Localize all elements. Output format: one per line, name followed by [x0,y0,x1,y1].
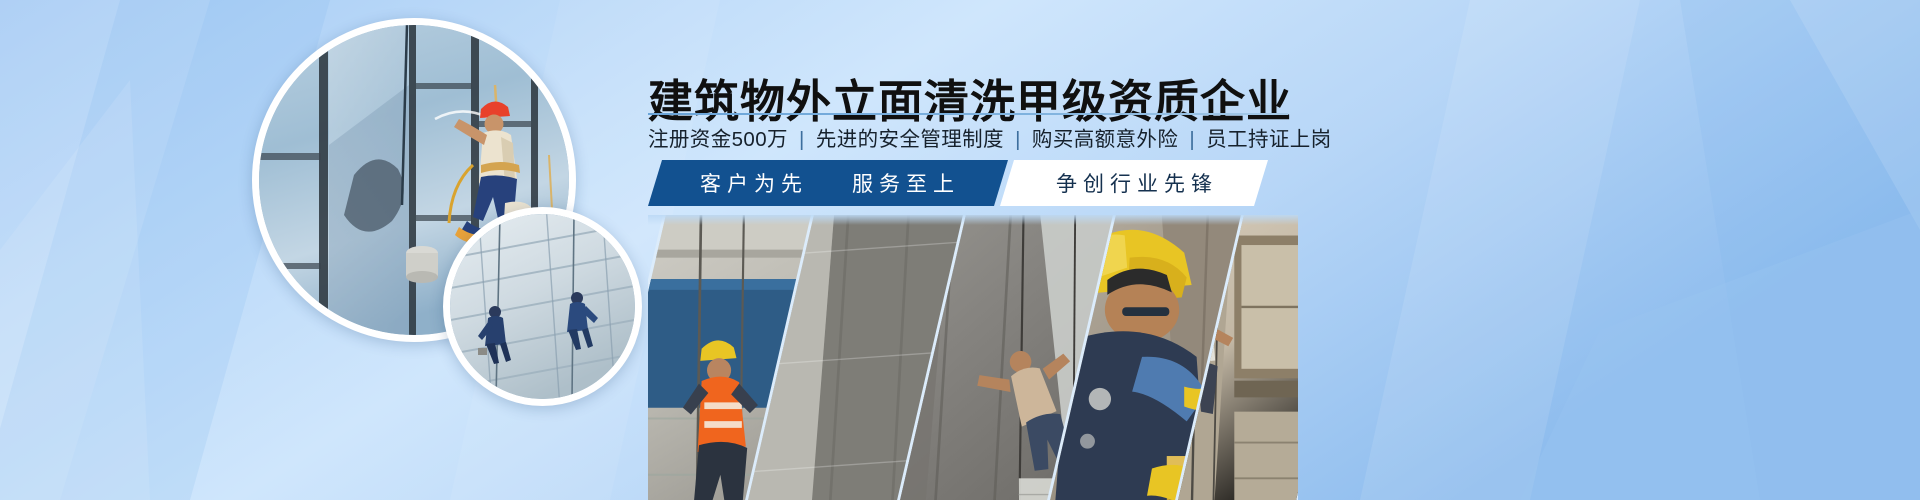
slogan-bar: 客户为先 服务至上 争创行业先锋 [648,160,1298,206]
content-column: 建筑物外立面清洗甲级资质企业 注册资金500万 | 先进的安全管理制度 | 购买… [648,0,1920,500]
slogan-text-1: 客户为先 [700,168,808,198]
photo-strip [648,215,1298,500]
subtitle-item-2: 先进的安全管理制度 [816,128,1004,151]
slogan-text-2: 服务至上 [852,168,960,198]
slogan-text-3: 争创行业先锋 [1050,168,1218,198]
circle-photo-group [0,0,660,500]
subtitle-item-1: 注册资金500万 [648,128,788,151]
subtitle-separator: | [1184,128,1200,151]
subtitle-separator: | [1010,128,1026,151]
subtitle-item-4: 员工持证上岗 [1206,128,1331,151]
promo-banner: 建筑物外立面清洗甲级资质企业 注册资金500万 | 先进的安全管理制度 | 购买… [0,0,1920,500]
title-divider [648,113,1288,115]
page-title: 建筑物外立面清洗甲级资质企业 [648,78,1293,125]
subtitle-item-3: 购买高额意外险 [1032,128,1178,151]
subtitle-line: 注册资金500万 | 先进的安全管理制度 | 购买高额意外险 | 员工持证上岗 [648,122,1293,152]
slogan-badge-secondary: 争创行业先锋 [1000,160,1268,206]
photo-workers-on-metal-facade [443,207,642,406]
slogan-badge-primary: 客户为先 服务至上 [648,160,1008,206]
subtitle-separator: | [794,128,810,151]
